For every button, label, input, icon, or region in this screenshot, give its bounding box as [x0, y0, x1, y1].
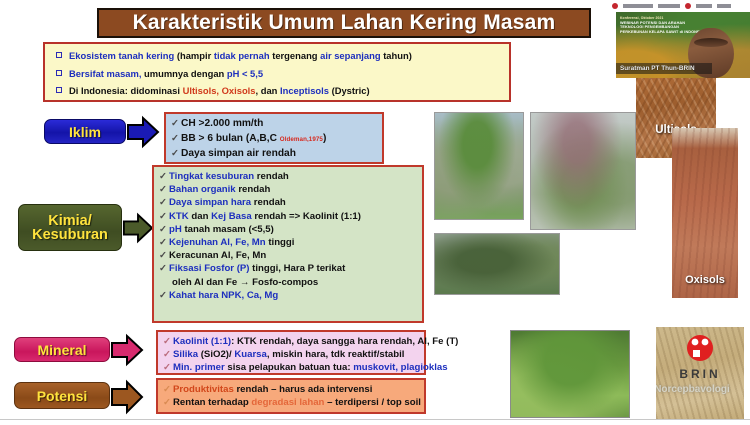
text-run: : KTK rendah, daya sangga hara rendah, A…	[231, 336, 458, 347]
text-run: , miskin hara, tdk reaktif/stabil	[267, 349, 405, 360]
text-run: Rentan terhadap	[173, 397, 251, 408]
intro-line-3: Di Indonesia: didominasi Ultisols, Oxiso…	[52, 84, 502, 97]
text-run: Ekosistem tanah kering	[69, 50, 177, 61]
text-run: sisa pelapukan batuan tua:	[227, 362, 353, 373]
category-pill-potensi[interactable]: Potensi	[14, 382, 110, 409]
panel-row: ✓Kejenuhan Al, Fe, Mn tinggi	[159, 236, 416, 249]
checkmark-icon: ✓	[159, 183, 169, 196]
checkmark-icon: ✓	[163, 348, 173, 361]
panel-row: ✓Silika (SiO2)/ Kuarsa, miskin hara, tdk…	[163, 348, 418, 361]
checkmark-icon: ✓	[159, 223, 169, 236]
category-pill-iklim[interactable]: Iklim	[44, 119, 126, 144]
panel-row: oleh Al dan Fe → Fosfo-compos	[159, 276, 416, 289]
text-run: Bersifat masam,	[69, 68, 144, 79]
text-run: Di Indonesia: didominasi	[69, 85, 183, 96]
panel-row-text: Tingkat kesuburan rendah	[169, 170, 289, 183]
category-pill-mineral[interactable]: Mineral	[14, 337, 110, 362]
panel-row-text: Rentan terhadap degradasi lahan – terdip…	[173, 396, 421, 409]
checkmark-icon: ✓	[159, 262, 169, 275]
text-run: Oldeman,1975	[280, 136, 323, 143]
text-run: degradasi lahan	[251, 397, 327, 408]
brin-logo-icon	[685, 333, 715, 363]
checkmark-icon: ✓	[159, 196, 169, 209]
text-run: tinggi	[268, 237, 294, 248]
text-run: Daya simpan air rendah	[181, 148, 296, 159]
checkmark-icon: ✓	[163, 383, 173, 396]
panel-row-text: Silika (SiO2)/ Kuarsa, miskin hara, tdk …	[173, 348, 404, 361]
panel-row-text: Bahan organik rendah	[169, 183, 270, 196]
text-run: )	[323, 133, 326, 144]
panel-row: ✓Keracunan Al, Fe, Mn	[159, 249, 416, 262]
bottom-edge-rule	[0, 419, 750, 425]
category-pill-kimia-label-line1: Kimia/	[48, 214, 92, 228]
panel-row: ✓Min. primer sisa pelapukan batuan tua: …	[163, 361, 418, 374]
panel-row-text: CH >2.000 mm/th	[181, 117, 263, 132]
intro-line-1-text: Ekosistem tanah kering (hampir tidak per…	[69, 49, 412, 62]
panel-row: ✓KTK dan Kej Basa rendah => Kaolinit (1:…	[159, 210, 416, 223]
panel-row: ✓pH tanah masam (<5,5)	[159, 223, 416, 236]
text-run: Kaolinit (1:1)	[173, 336, 231, 347]
text-run: Min. primer	[173, 362, 227, 373]
text-run: tergenang	[272, 50, 320, 61]
sponsor-logo-icon-4	[685, 3, 691, 9]
checkmark-icon: ✓	[159, 210, 169, 223]
panel-row: ✓Fiksasi Fosfor (P) tinggi, Hara P terik…	[159, 262, 416, 275]
text-run: Daya simpan hara	[169, 197, 254, 208]
sponsor-logo-icon-1	[612, 3, 618, 9]
panel-row: ✓Rentan terhadap degradasi lahan – terdi…	[163, 396, 418, 409]
panel-row-text: Fiksasi Fosfor (P) tinggi, Hara P terika…	[169, 262, 345, 275]
panel-row-text: Min. primer sisa pelapukan batuan tua: m…	[173, 361, 448, 374]
panel-row: ✓Daya simpan hara rendah	[159, 196, 416, 209]
text-run: rendah – harus ada intervensi	[236, 384, 372, 395]
panel-row-text: KTK dan Kej Basa rendah => Kaolinit (1:1…	[169, 210, 361, 223]
webinar-banner-heading: Konferensi, Oktober 2021 WEBINAR POTENSI…	[620, 16, 708, 34]
text-run: oleh Al dan Fe → Fosfo-compos	[172, 277, 318, 288]
arrow-icon-kimia	[122, 211, 154, 245]
text-run: rendah => Kaolinit (1:1)	[254, 211, 361, 222]
text-run: rendah	[238, 184, 270, 195]
text-run: BB > 6 bulan (A,B,C	[181, 133, 280, 144]
panel-row: ✓Produktivitas rendah – harus ada interv…	[163, 383, 418, 396]
sponsor-logo-strip	[604, 0, 750, 12]
checkmark-icon: ✓	[159, 289, 169, 302]
category-pill-iklim-label: Iklim	[69, 125, 101, 139]
text-run: KTK	[169, 211, 191, 222]
text-run: Tingkat kesuburan	[169, 171, 257, 182]
panel-row-text: Kejenuhan Al, Fe, Mn tinggi	[169, 236, 294, 249]
oil-palm-photo-3	[434, 233, 560, 295]
panel-row: ✓BB > 6 bulan (A,B,C Oldeman,1975)	[171, 132, 376, 148]
intro-line-2: Bersifat masam, umumnya dengan pH < 5,5	[52, 67, 502, 80]
text-run: CH >2.000 mm/th	[181, 118, 263, 129]
panel-row: ✓Kaolinit (1:1): KTK rendah, daya sangga…	[163, 335, 418, 348]
text-run: tahun)	[383, 50, 412, 61]
panel-row: ✓Daya simpan air rendah	[171, 147, 376, 162]
text-run: Fiksasi Fosfor (P)	[169, 263, 252, 274]
text-run: Ultisols, Oxisols	[183, 85, 256, 96]
square-bullet-icon	[56, 70, 62, 76]
page-title: Karakteristik Umum Lahan Kering Masam	[133, 11, 556, 35]
panel-row-text: Produktivitas rendah – harus ada interve…	[173, 383, 372, 396]
text-run: – terdipersi / top soil	[327, 397, 421, 408]
watermark-text: Norcepbavologi	[656, 384, 744, 395]
panel-row-text: Daya simpan air rendah	[181, 147, 296, 162]
intro-line-2-text: Bersifat masam, umumnya dengan pH < 5,5	[69, 67, 263, 80]
checkmark-icon: ✓	[171, 132, 181, 147]
brin-logo-text: BRIN	[679, 367, 720, 381]
oil-palm-photo-1	[434, 112, 524, 220]
text-run: tidak pernah	[214, 50, 272, 61]
text-run: Kahat hara NPK, Ca, Mg	[169, 290, 278, 301]
checkmark-icon: ✓	[171, 147, 181, 162]
oil-palm-photo-2	[530, 112, 636, 230]
panel-row-text: oleh Al dan Fe → Fosfo-compos	[172, 276, 318, 289]
text-run: (Dystric)	[332, 85, 370, 96]
text-run: tanah masam (<5,5)	[184, 224, 273, 235]
panel-row-text: BB > 6 bulan (A,B,C Oldeman,1975)	[181, 132, 326, 148]
text-run: pH < 5,5	[227, 68, 263, 79]
checkmark-icon: ✓	[159, 249, 169, 262]
intro-line-1: Ekosistem tanah kering (hampir tidak per…	[52, 49, 502, 62]
text-run: (hampir	[177, 50, 214, 61]
arrow-icon-iklim	[126, 115, 160, 149]
square-bullet-icon	[56, 52, 62, 58]
intro-line-3-text: Di Indonesia: didominasi Ultisols, Oxiso…	[69, 84, 370, 97]
slide-canvas: Karakteristik Umum Lahan Kering Masam Ek…	[0, 0, 750, 425]
category-pill-kimia-kesuburan[interactable]: Kimia/ Kesuburan	[18, 204, 122, 251]
panel-row: ✓CH >2.000 mm/th	[171, 117, 376, 132]
arrow-icon-potensi	[110, 379, 144, 415]
text-run: Kejenuhan Al, Fe, Mn	[169, 237, 268, 248]
speaker-name: Suratman PT Thun-BRIN	[620, 65, 695, 72]
speaker-name-bar: Suratman PT Thun-BRIN	[616, 63, 712, 74]
sponsor-logo-icon-2	[623, 4, 653, 8]
checkmark-icon: ✓	[159, 170, 169, 183]
square-bullet-icon	[56, 87, 62, 93]
checkmark-icon: ✓	[163, 335, 173, 348]
text-run: (SiO2)/	[201, 349, 235, 360]
slide-title-bar: Karakteristik Umum Lahan Kering Masam	[97, 8, 591, 38]
webinar-banner: Konferensi, Oktober 2021 WEBINAR POTENSI…	[616, 12, 750, 78]
panel-row: ✓Bahan organik rendah	[159, 183, 416, 196]
sponsor-logo-icon-6	[717, 4, 731, 8]
brin-logo-photo: BRIN Norcepbavologi	[656, 327, 744, 419]
text-run: pH	[169, 224, 184, 235]
text-run: tinggi, Hara P terikat	[252, 263, 345, 274]
text-run: Bahan organik	[169, 184, 238, 195]
text-run: Keracunan Al, Fe, Mn	[169, 250, 266, 261]
checkmark-icon: ✓	[159, 236, 169, 249]
text-run: Silika	[173, 349, 201, 360]
left-edge-strip	[0, 0, 6, 425]
panel-kimia-kesuburan: ✓Tingkat kesuburan rendah✓Bahan organik …	[152, 165, 424, 323]
checkmark-icon: ✓	[163, 396, 173, 409]
text-run: rendah	[254, 197, 286, 208]
soil-photo-caption-oxisols: Oxisols	[672, 274, 738, 286]
category-pill-mineral-label: Mineral	[37, 343, 86, 357]
intro-summary-box: Ekosistem tanah kering (hampir tidak per…	[43, 42, 511, 102]
text-run: , dan	[256, 85, 280, 96]
category-pill-potensi-label: Potensi	[37, 389, 88, 403]
soil-profile-photo-oxisols: Oxisols	[672, 128, 738, 298]
panel-row-text: Daya simpan hara rendah	[169, 196, 286, 209]
checkmark-icon: ✓	[163, 361, 173, 374]
panel-row-text: pH tanah masam (<5,5)	[169, 223, 274, 236]
panel-potensi: ✓Produktivitas rendah – harus ada interv…	[156, 378, 426, 414]
panel-row: ✓Tingkat kesuburan rendah	[159, 170, 416, 183]
webinar-banner-line-2: WEBINAR POTENSI DAN ARAHAN TEKNOLOGI PEN…	[620, 21, 708, 30]
text-run: muskovit, plagioklas	[353, 362, 447, 373]
arrow-icon-mineral	[110, 333, 144, 367]
panel-row: ✓Kahat hara NPK, Ca, Mg	[159, 289, 416, 302]
category-pill-kimia-label-line2: Kesuburan	[32, 228, 108, 242]
text-run: Produktivitas	[173, 384, 236, 395]
checkmark-icon: ✓	[171, 117, 181, 132]
text-run: air sepanjang	[320, 50, 383, 61]
panel-row-text: Kahat hara NPK, Ca, Mg	[169, 289, 278, 302]
text-run: rendah	[257, 171, 289, 182]
panel-iklim: ✓CH >2.000 mm/th✓BB > 6 bulan (A,B,C Old…	[164, 112, 384, 164]
text-run: dan	[191, 211, 211, 222]
text-run: Kuarsa	[234, 349, 267, 360]
oil-palm-photo-4	[510, 330, 630, 418]
text-run: umumnya dengan	[144, 68, 227, 79]
text-run: Kej Basa	[211, 211, 254, 222]
panel-mineral: ✓Kaolinit (1:1): KTK rendah, daya sangga…	[156, 330, 426, 375]
sponsor-logo-icon-3	[658, 4, 680, 8]
panel-row-text: Kaolinit (1:1): KTK rendah, daya sangga …	[173, 335, 458, 348]
sponsor-logo-icon-5	[696, 4, 712, 8]
text-run: Inceptisols	[280, 85, 332, 96]
panel-row-text: Keracunan Al, Fe, Mn	[169, 249, 266, 262]
video-thumbnail[interactable]: Konferensi, Oktober 2021 WEBINAR POTENSI…	[604, 0, 750, 78]
